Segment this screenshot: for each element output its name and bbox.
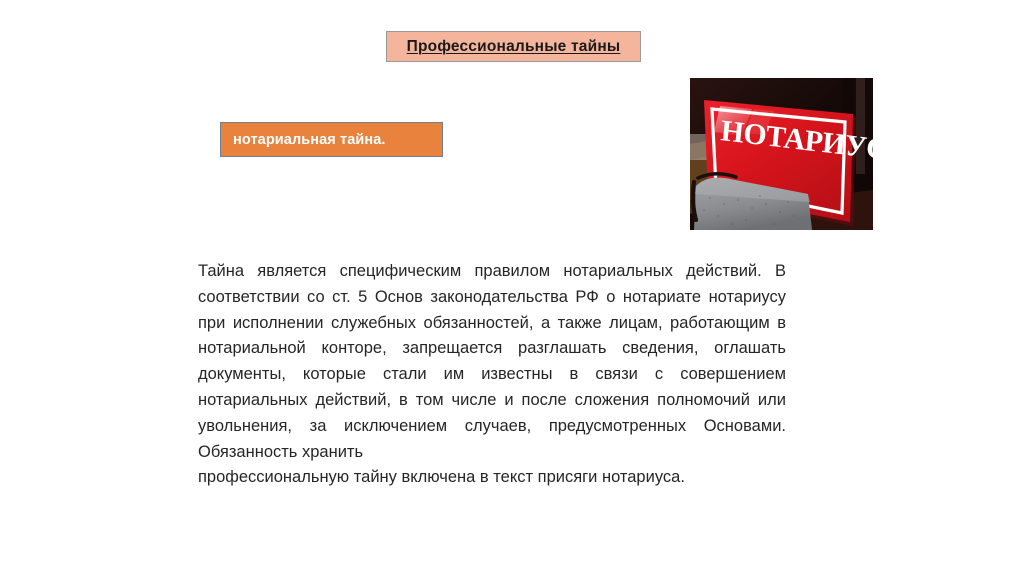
slide-canvas: Профессиональные тайны нотариальная тайн… <box>0 0 1024 574</box>
page-title: Профессиональные тайны <box>407 38 621 56</box>
body-paragraph: Тайна является специфическим правилом но… <box>198 259 786 491</box>
subtitle-box: нотариальная тайна. <box>220 122 443 157</box>
subtitle-label: нотариальная тайна. <box>233 132 386 148</box>
body-paragraph-text: Тайна является специфическим правилом но… <box>198 262 786 461</box>
title-box: Профессиональные тайны <box>386 31 641 62</box>
notary-sign-illustration: НОТАРИУС <box>690 78 873 230</box>
notary-sign-photo: НОТАРИУС <box>690 78 873 230</box>
body-paragraph-last-line: профессиональную тайну включена в текст … <box>198 465 786 491</box>
